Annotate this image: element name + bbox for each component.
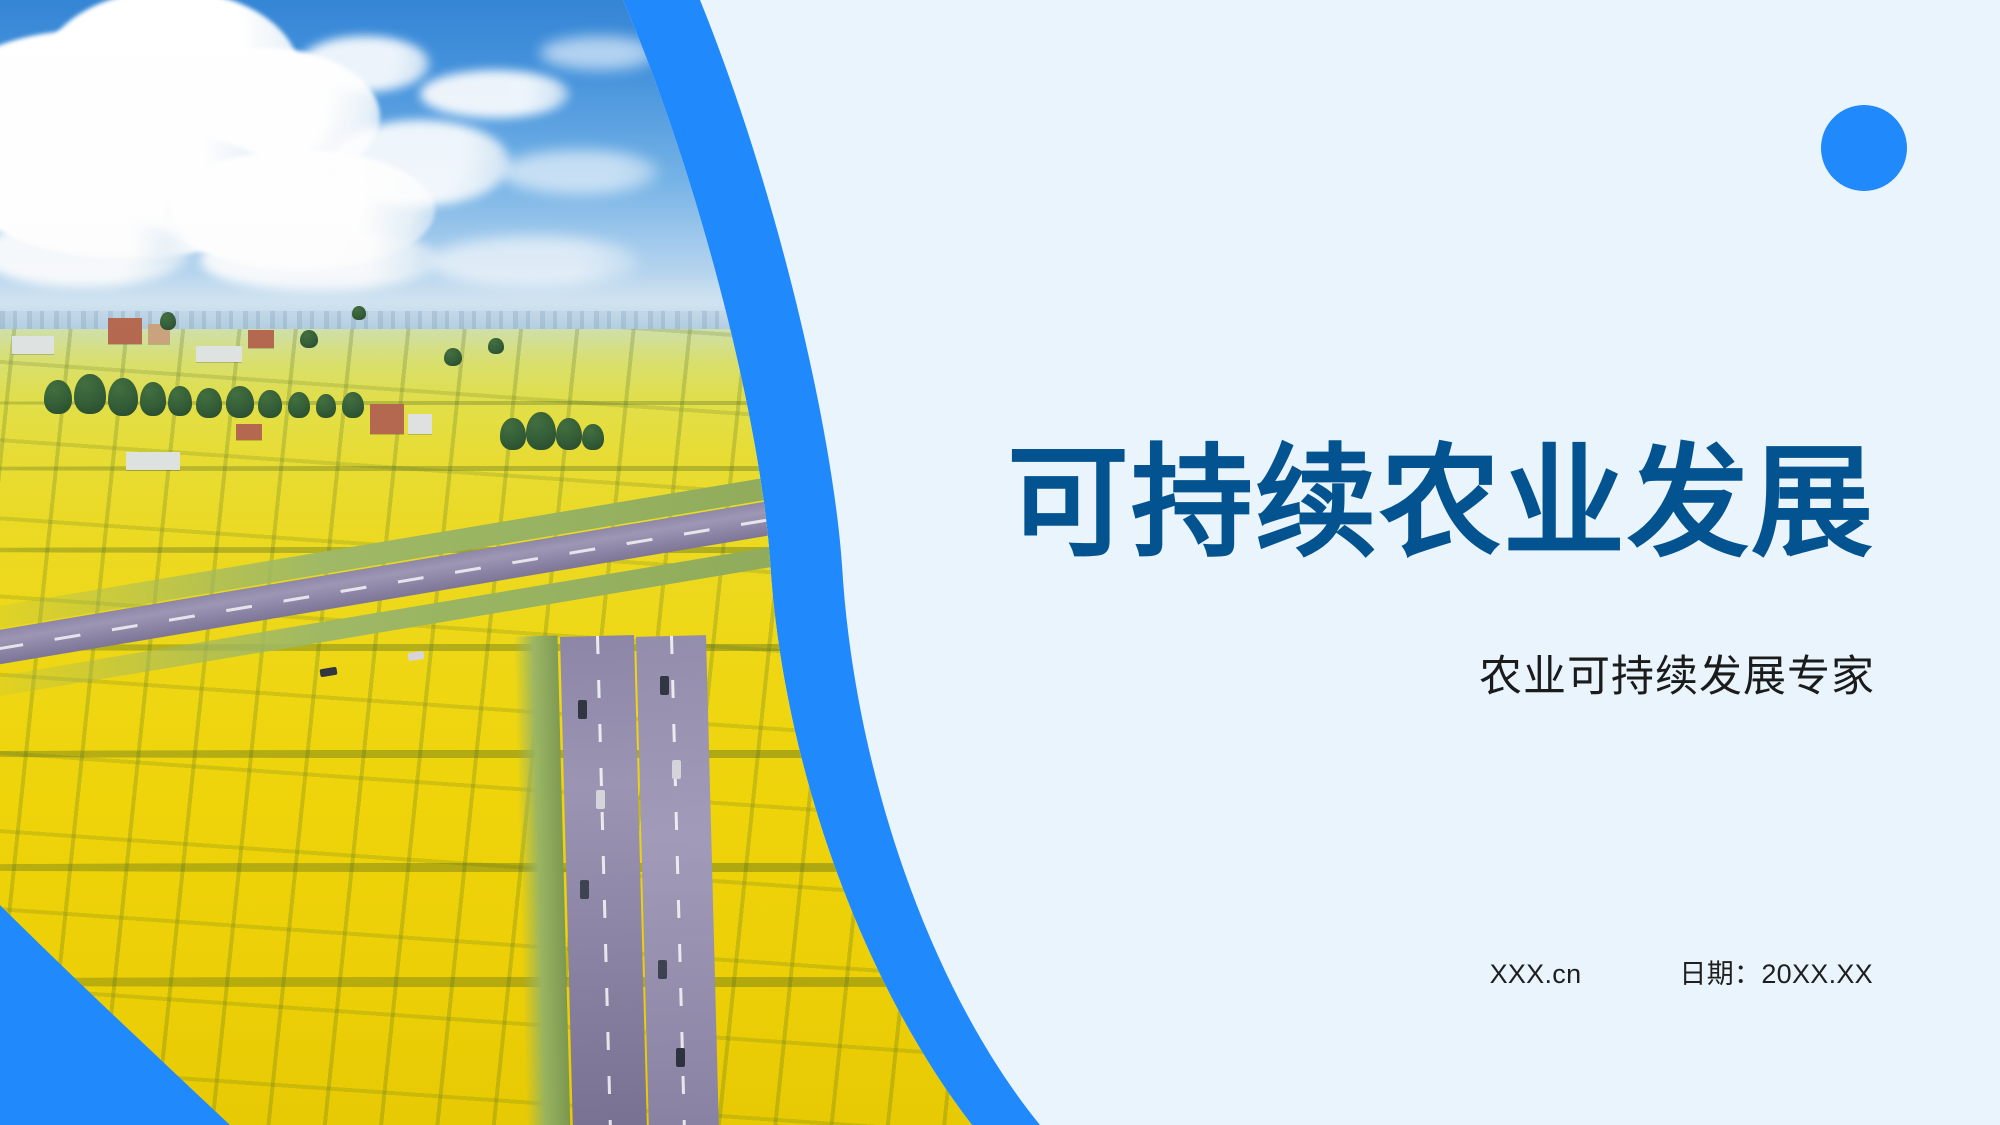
page-subtitle: 农业可持续发展专家 — [1479, 652, 1875, 704]
footer-meta: XXX.cn 日期：20XX.XX — [1490, 952, 1873, 991]
site-label: XXX.cn — [1490, 959, 1582, 990]
page-title: 可持续农业发展 — [1007, 438, 1875, 570]
slide-canvas: 可持续农业发展 农业可持续发展专家 XXX.cn 日期：20XX.XX — [0, 0, 2000, 1125]
blue-circle-decoration — [1821, 105, 1907, 191]
date-label: 日期：20XX.XX — [1679, 952, 1873, 991]
